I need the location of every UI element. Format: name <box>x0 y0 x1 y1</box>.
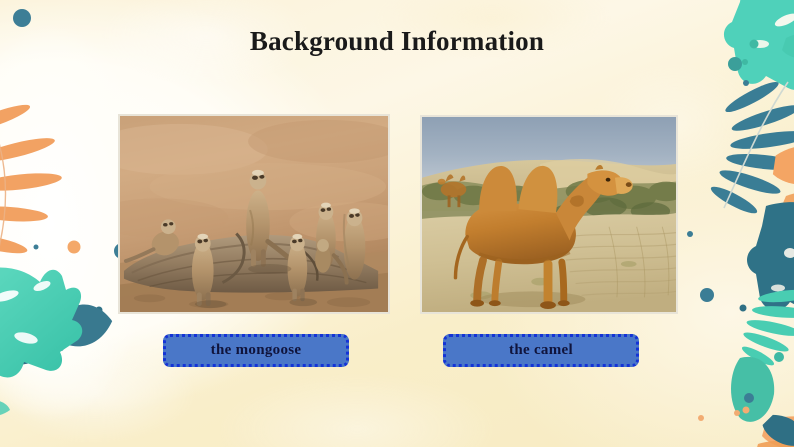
caption-mongoose[interactable]: the mongoose <box>163 334 349 367</box>
slide-canvas: Background Information <box>0 0 794 447</box>
camel-photo-illustration <box>422 117 676 312</box>
mongoose-photo <box>118 114 390 314</box>
mongoose-photo-illustration <box>120 116 388 312</box>
caption-camel[interactable]: the camel <box>443 334 639 367</box>
meerkat <box>315 239 331 273</box>
meerkat <box>344 208 366 279</box>
page-title: Background Information <box>0 26 794 57</box>
camel-photo <box>420 115 678 314</box>
